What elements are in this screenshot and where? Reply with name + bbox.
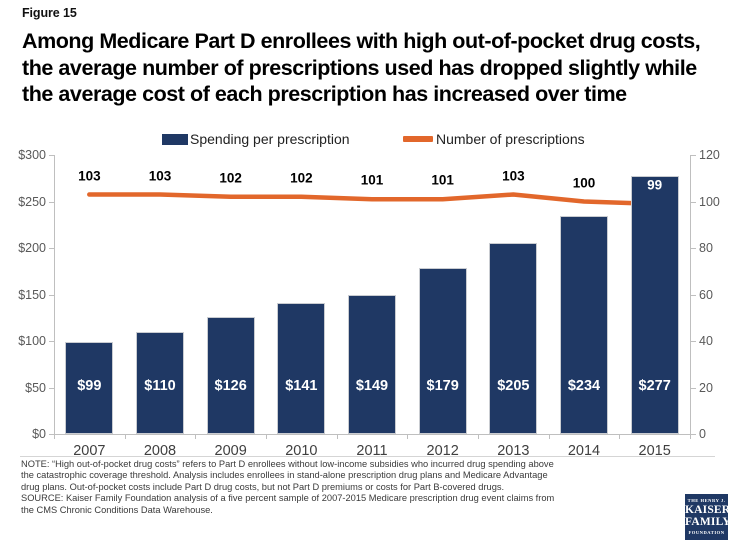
right-axis-tick-label: 120	[699, 148, 735, 162]
legend-item-spending-per-prescription[interactable]: Spending per prescription	[162, 131, 350, 147]
left-axis-tick-label: $250	[2, 195, 46, 209]
left-axis-tick-label: $300	[2, 148, 46, 162]
line-data-label: 103	[78, 168, 101, 183]
kff-logo-inner: THE HENRY J. KAISER FAMILY FOUNDATION	[685, 494, 728, 540]
left-axis-tick-label: $150	[2, 288, 46, 302]
right-axis-tick-label: 20	[699, 381, 735, 395]
bar-data-label: $110	[136, 378, 184, 394]
bar-spending-per-prescription[interactable]	[419, 268, 467, 434]
bar-spending-per-prescription[interactable]	[277, 303, 325, 434]
left-axis-tick	[49, 341, 54, 342]
right-axis-tick-label: 100	[699, 195, 735, 209]
figure-label: Figure 15	[22, 6, 77, 20]
bar-data-label: $205	[489, 378, 537, 394]
category-axis-tick	[125, 434, 126, 439]
left-axis-line	[54, 155, 55, 434]
left-axis-tick	[49, 202, 54, 203]
line-data-label: 103	[149, 168, 172, 183]
left-axis-tick-label: $50	[2, 381, 46, 395]
page-title: Among Medicare Part D enrollees with hig…	[22, 28, 722, 108]
left-axis-tick-label: $200	[2, 241, 46, 255]
left-axis-tick-label: $100	[2, 334, 46, 348]
line-path-number-of-prescriptions	[89, 195, 654, 204]
legend-item-number-of-prescriptions[interactable]: Number of prescriptions	[403, 131, 585, 147]
category-axis-tick	[266, 434, 267, 439]
right-axis-tick	[691, 155, 696, 156]
page-title-line-1: Among Medicare Part D enrollees with hig…	[22, 28, 722, 55]
legend-bar-swatch-icon	[162, 134, 188, 145]
line-data-label: 101	[431, 173, 454, 188]
left-axis-tick-label: $0	[2, 427, 46, 441]
category-axis-tick	[478, 434, 479, 439]
footnotes: NOTE: “High out-of-pocket drug costs” re…	[21, 459, 671, 516]
category-axis-tick	[690, 434, 691, 439]
bar-spending-per-prescription[interactable]	[489, 243, 537, 434]
right-axis-tick	[691, 341, 696, 342]
bar-data-label: $234	[560, 378, 608, 394]
bar-data-label: $126	[207, 378, 255, 394]
line-data-label: 103	[502, 168, 525, 183]
bar-data-label: $277	[631, 378, 679, 394]
page-title-line-3: the average cost of each prescription ha…	[22, 81, 722, 108]
category-axis-tick	[54, 434, 55, 439]
kff-logo-line-3: FAMILY	[685, 516, 728, 528]
category-axis-tick	[619, 434, 620, 439]
chart-plot-area: $0$50$100$150$200$250$300020406080100120…	[0, 155, 735, 455]
right-axis-tick-label: 40	[699, 334, 735, 348]
category-axis-line	[54, 434, 691, 435]
bar-spending-per-prescription[interactable]	[560, 216, 608, 434]
footnote-line: SOURCE: Kaiser Family Foundation analysi…	[21, 493, 671, 504]
left-axis-tick	[49, 388, 54, 389]
bar-data-label: $149	[348, 378, 396, 394]
category-axis-tick	[407, 434, 408, 439]
right-axis-tick	[691, 434, 696, 435]
line-data-label: 102	[219, 170, 242, 185]
right-axis-tick	[691, 248, 696, 249]
right-axis-tick	[691, 388, 696, 389]
right-axis-tick-label: 0	[699, 427, 735, 441]
bar-data-label: $179	[419, 378, 467, 394]
kff-logo: THE HENRY J. KAISER FAMILY FOUNDATION	[684, 492, 729, 542]
right-axis-tick-label: 60	[699, 288, 735, 302]
line-data-label: 100	[573, 175, 596, 190]
legend-item-label: Number of prescriptions	[436, 131, 585, 147]
footnote-line: NOTE: “High out-of-pocket drug costs” re…	[21, 459, 671, 470]
kff-logo-line-1: THE HENRY J.	[685, 498, 728, 503]
category-axis-tick	[195, 434, 196, 439]
bar-spending-per-prescription[interactable]	[348, 295, 396, 434]
slide-canvas: Figure 15 Among Medicare Part D enrollee…	[0, 0, 735, 551]
footnote-line: the CMS Chronic Conditions Data Warehous…	[21, 505, 671, 516]
category-axis-tick	[549, 434, 550, 439]
right-axis-tick	[691, 295, 696, 296]
line-data-label: 99	[647, 177, 662, 192]
kff-logo-line-2: KAISER	[685, 504, 728, 516]
left-axis-tick	[49, 155, 54, 156]
bar-spending-per-prescription[interactable]	[631, 176, 679, 434]
footnote-line: the catastrophic coverage threshold. Ana…	[21, 470, 671, 481]
bar-data-label: $141	[277, 378, 325, 394]
left-axis-tick	[49, 295, 54, 296]
legend-line-swatch-icon	[403, 136, 433, 142]
page-title-line-2: the average number of prescriptions used…	[22, 55, 722, 82]
line-data-label: 102	[290, 170, 313, 185]
right-axis-tick-label: 80	[699, 241, 735, 255]
bar-data-label: $99	[65, 378, 113, 394]
line-data-label: 101	[361, 173, 384, 188]
chart-legend: Spending per prescription Number of pres…	[0, 131, 735, 153]
legend-item-label: Spending per prescription	[190, 131, 350, 147]
footnote-divider	[20, 456, 715, 457]
right-axis-tick	[691, 202, 696, 203]
bar-spending-per-prescription[interactable]	[207, 317, 255, 434]
left-axis-tick	[49, 248, 54, 249]
kff-logo-line-4: FOUNDATION	[685, 530, 728, 535]
footnote-line: drug plans. Out-of-pocket costs include …	[21, 482, 671, 493]
category-axis-tick	[337, 434, 338, 439]
